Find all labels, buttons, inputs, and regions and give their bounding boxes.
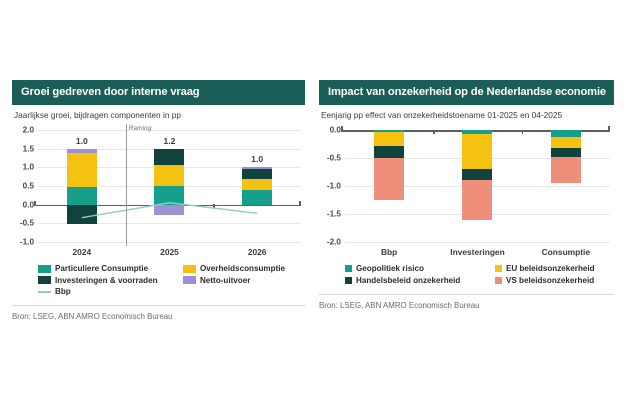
legend-swatch-icon bbox=[495, 265, 502, 272]
bar-segment[interactable] bbox=[551, 137, 581, 148]
right-plot: -2.0-1.5-1.0-0.50.0 bbox=[345, 130, 610, 242]
bar-segment[interactable] bbox=[374, 132, 404, 146]
left-plot: -1.0-0.50.00.51.01.52.01.01.21.0Raming bbox=[38, 130, 301, 242]
uncertainty-chart-card: Impact van onzekerheid op de Nederlandse… bbox=[319, 80, 614, 417]
y-axis-tick-label: 2.0 bbox=[23, 126, 34, 135]
x-axis-category-label: 2024 bbox=[73, 247, 92, 257]
bar-segment[interactable] bbox=[551, 148, 581, 157]
growth-chart-card: Groei gedreven door interne vraag Jaarli… bbox=[12, 80, 305, 417]
y-axis-tick-label: -2.0 bbox=[327, 238, 341, 247]
infographic-root: Groei gedreven door interne vraag Jaarli… bbox=[0, 0, 626, 417]
right-x-axis-labels: BbpInvesteringenConsumptie bbox=[345, 244, 610, 260]
bar-investeringen[interactable] bbox=[462, 130, 492, 242]
axis-end-cap bbox=[341, 126, 343, 131]
legend-label: VS beleidsonzekerheid bbox=[506, 276, 594, 285]
left-x-axis-labels: 202420252026 bbox=[38, 244, 301, 260]
y-axis-tick-label: 1.0 bbox=[23, 163, 34, 172]
bar-consumptie[interactable] bbox=[551, 130, 581, 242]
bar-segment[interactable] bbox=[374, 158, 404, 200]
bbp-line-series bbox=[38, 130, 301, 393]
y-axis-tick-label: -1.0 bbox=[20, 238, 34, 247]
x-axis-category-label: 2026 bbox=[248, 247, 267, 257]
y-axis-tick-label: 0.0 bbox=[330, 126, 341, 135]
y-axis-tick-label: 0.0 bbox=[23, 200, 34, 209]
bar-segment[interactable] bbox=[462, 180, 492, 219]
right-chart-legend: Geopolitiek risicoEU beleidsonzekerheidH… bbox=[319, 264, 614, 285]
left-plot-area: -1.0-0.50.00.51.01.52.01.01.21.0Raming bbox=[12, 130, 305, 242]
forecast-annotation-label: Raming bbox=[129, 125, 152, 132]
axis-end-cap bbox=[34, 201, 36, 206]
gridline bbox=[345, 242, 610, 243]
right-source-text: Bron: LSEG, ABN AMRO Economisch Bureau bbox=[319, 295, 614, 310]
y-axis-tick-label: -1.5 bbox=[327, 210, 341, 219]
bar-segment[interactable] bbox=[462, 134, 492, 169]
x-axis-tick bbox=[522, 130, 523, 134]
bar-bbp[interactable] bbox=[374, 130, 404, 242]
y-axis-tick-label: 0.5 bbox=[23, 182, 34, 191]
x-axis-category-label: Bbp bbox=[381, 247, 397, 257]
y-axis-tick-label: -0.5 bbox=[20, 219, 34, 228]
legend-swatch-icon bbox=[345, 265, 352, 272]
legend-label: EU beleidsonzekerheid bbox=[506, 264, 595, 273]
legend-item[interactable]: Handelsbeleid onzekerheid bbox=[345, 276, 495, 285]
right-chart-title: Impact van onzekerheid op de Nederlandse… bbox=[319, 80, 614, 105]
y-axis-tick-label: -1.0 bbox=[327, 182, 341, 191]
y-axis-tick-label: 1.5 bbox=[23, 144, 34, 153]
axis-end-cap bbox=[608, 126, 610, 131]
x-axis-category-label: 2025 bbox=[160, 247, 179, 257]
left-chart-subtitle: Jaarlijkse groei, bijdragen componenten … bbox=[12, 105, 305, 123]
bar-segment[interactable] bbox=[462, 169, 492, 180]
legend-item[interactable]: Geopolitiek risico bbox=[345, 264, 495, 273]
right-chart-subtitle: Eenjarig pp effect van onzekerheidstoena… bbox=[319, 105, 614, 123]
legend-swatch-icon bbox=[345, 277, 352, 284]
forecast-divider bbox=[126, 124, 127, 246]
legend-label: Geopolitiek risico bbox=[356, 264, 424, 273]
legend-label: Handelsbeleid onzekerheid bbox=[356, 276, 460, 285]
legend-item[interactable]: EU beleidsonzekerheid bbox=[495, 264, 614, 273]
bar-segment[interactable] bbox=[551, 157, 581, 183]
x-axis-category-label: Consumptie bbox=[542, 247, 590, 257]
bar-segment[interactable] bbox=[374, 146, 404, 158]
legend-item[interactable]: VS beleidsonzekerheid bbox=[495, 276, 614, 285]
right-plot-area: -2.0-1.5-1.0-0.50.0 bbox=[319, 130, 614, 242]
x-axis-tick bbox=[433, 130, 434, 134]
left-chart-title: Groei gedreven door interne vraag bbox=[12, 80, 305, 105]
legend-swatch-icon bbox=[495, 277, 502, 284]
y-axis-tick-label: -0.5 bbox=[327, 154, 341, 163]
bar-segment[interactable] bbox=[551, 130, 581, 137]
x-axis-category-label: Investeringen bbox=[450, 247, 504, 257]
